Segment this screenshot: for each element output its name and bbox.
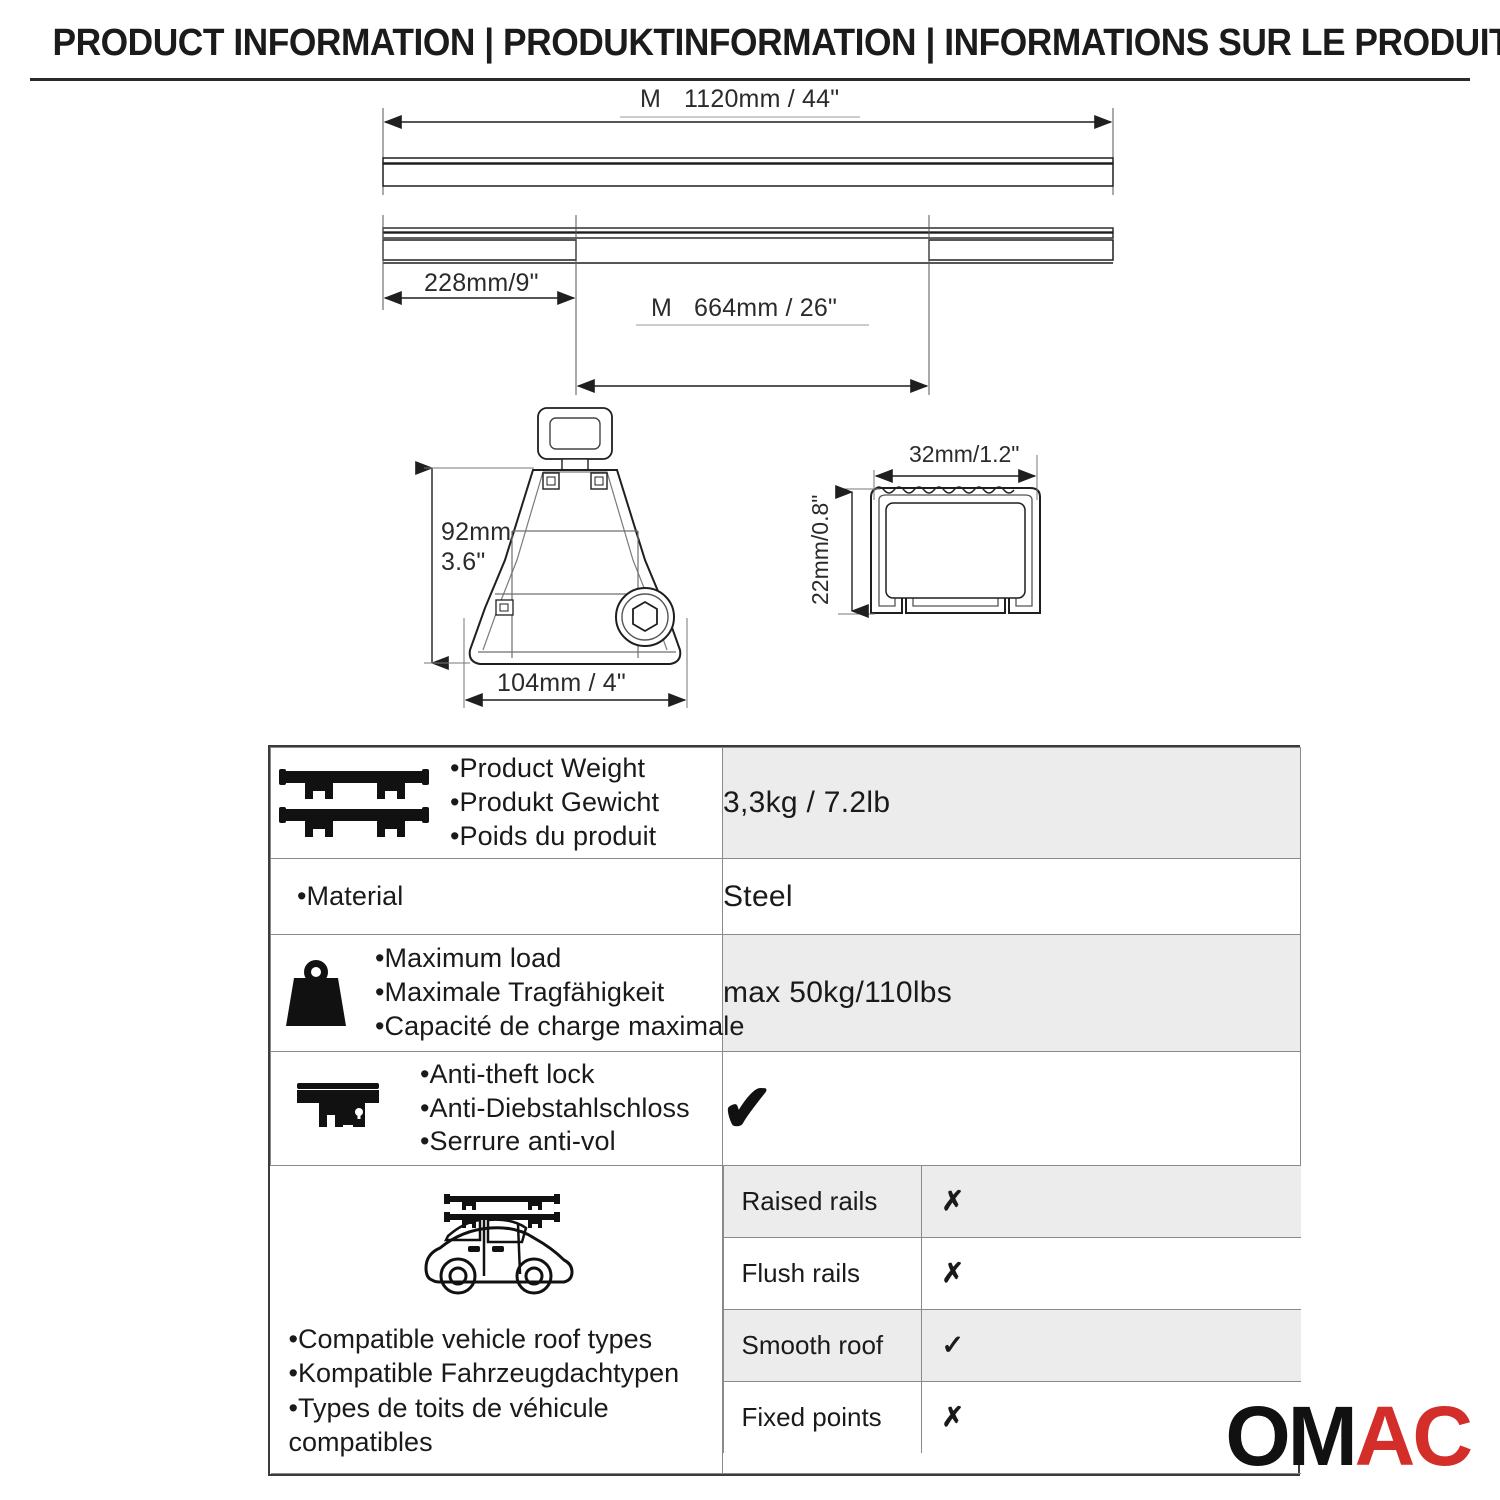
checkmark-icon: ✔ [722,1075,773,1142]
crossbars-icon [271,767,436,839]
roof-type-mark: ✗ [921,1166,1301,1238]
compatibility-row: •Compatible vehicle roof types •Kompatib… [271,1166,1301,1474]
spec-label-cell-lock: •Anti-theft lock •Anti-Diebstahlschloss … [271,1052,723,1166]
car-with-rack-icon [289,1180,712,1308]
compatibility-labels: •Compatible vehicle roof types •Kompatib… [289,1322,680,1459]
roof-type-name: Fixed points [723,1382,921,1454]
spec-labels-weight: •Product Weight •Produkt Gewicht •Poids … [450,752,659,853]
dim-foot-spacing-label: 664mm / 26" [694,294,837,322]
dim-bar-length-marker: M [640,85,661,113]
roof-type-row: Flush rails ✗ [723,1238,1301,1310]
table-row: •Anti-theft lock •Anti-Diebstahlschloss … [271,1052,1301,1166]
lock-icon [271,1081,406,1137]
spec-value-lock: ✔ [723,1052,1301,1166]
label-line: •Produkt Gewicht [450,786,659,820]
dim-profile-height-label: 22mm/0.8" [807,495,833,605]
table-row: •Maximum load •Maximale Tragfähigkeit •C… [271,935,1301,1052]
roof-types-table: Raised rails ✗ Flush rails ✗ [723,1166,1301,1473]
label-line: •Maximale Tragfähigkeit [375,976,744,1010]
spec-labels-maxload: •Maximum load •Maximale Tragfähigkeit •C… [375,942,744,1043]
roof-type-name: Raised rails [723,1166,921,1238]
omac-logo: OMAC [1225,1394,1470,1478]
roof-type-row: Smooth roof ✓ [723,1310,1301,1382]
logo-text-dark: OM [1225,1389,1354,1483]
spec-label-cell-material: •Material [271,859,723,935]
label-line: •Poids du produit [450,820,659,854]
roof-type-row: Raised rails ✗ [723,1166,1301,1238]
logo-text-red: AC [1355,1389,1470,1483]
spec-value-material: Steel [723,859,1301,935]
dim-foot-width-label: 104mm / 4" [497,669,626,697]
table-row: •Compatible vehicle roof types •Kompatib… [271,1166,1301,1474]
label-line: •Anti-Diebstahlschloss [420,1092,690,1126]
weight-icon [271,956,361,1030]
product-information-page: PRODUCT INFORMATION | PRODUKTINFORMATION… [0,0,1500,1500]
roof-type-mark: ✓ [921,1310,1301,1382]
label-line: compatibles [289,1425,680,1459]
spec-label-cell-maxload: •Maximum load •Maximale Tragfähigkeit •C… [271,935,723,1052]
spec-value-weight: 3,3kg / 7.2lb [723,748,1301,859]
roof-type-name: Flush rails [723,1238,921,1310]
label-line: •Maximum load [375,942,744,976]
spec-labels-lock: •Anti-theft lock •Anti-Diebstahlschloss … [420,1058,690,1159]
roof-type-mark: ✗ [921,1238,1301,1310]
spec-value-maxload: max 50kg/110lbs [723,935,1301,1052]
specification-table: •Product Weight •Produkt Gewicht •Poids … [268,745,1300,1476]
roof-type-row: Fixed points ✗ [723,1382,1301,1454]
label-line: •Product Weight [450,752,659,786]
label-line: •Serrure anti-vol [420,1125,690,1159]
label-line: •Capacité de charge maximale [375,1010,744,1044]
technical-drawing-area: M 1120mm / 44" 228mm/9" M [0,0,1500,740]
dim-foot-spacing-marker: M [651,294,672,322]
table-row: •Product Weight •Produkt Gewicht •Poids … [271,748,1301,859]
label-line: •Material [297,880,403,914]
label-line: •Compatible vehicle roof types [289,1322,680,1356]
table-row: •Material Steel [271,859,1301,935]
roof-type-name: Smooth roof [723,1310,921,1382]
compatibility-label-cell: •Compatible vehicle roof types •Kompatib… [271,1166,723,1473]
label-line: •Types de toits de véhicule [289,1391,680,1425]
dim-foot-offset-label: 228mm/9" [424,269,539,297]
dim-bar-length-label: 1120mm / 44" [684,85,839,113]
label-line: •Kompatible Fahrzeugdachtypen [289,1356,680,1390]
label-line: •Anti-theft lock [420,1058,690,1092]
spec-labels-material: •Material [271,880,403,914]
drawing-svg: M 1120mm / 44" 228mm/9" M [0,0,1500,745]
spec-label-cell-weight: •Product Weight •Produkt Gewicht •Poids … [271,748,723,859]
dim-profile-width-label: 32mm/1.2" [909,441,1019,467]
dim-foot-height-line1: 92mm [441,518,511,546]
dim-foot-height-line2: 3.6" [441,548,485,576]
